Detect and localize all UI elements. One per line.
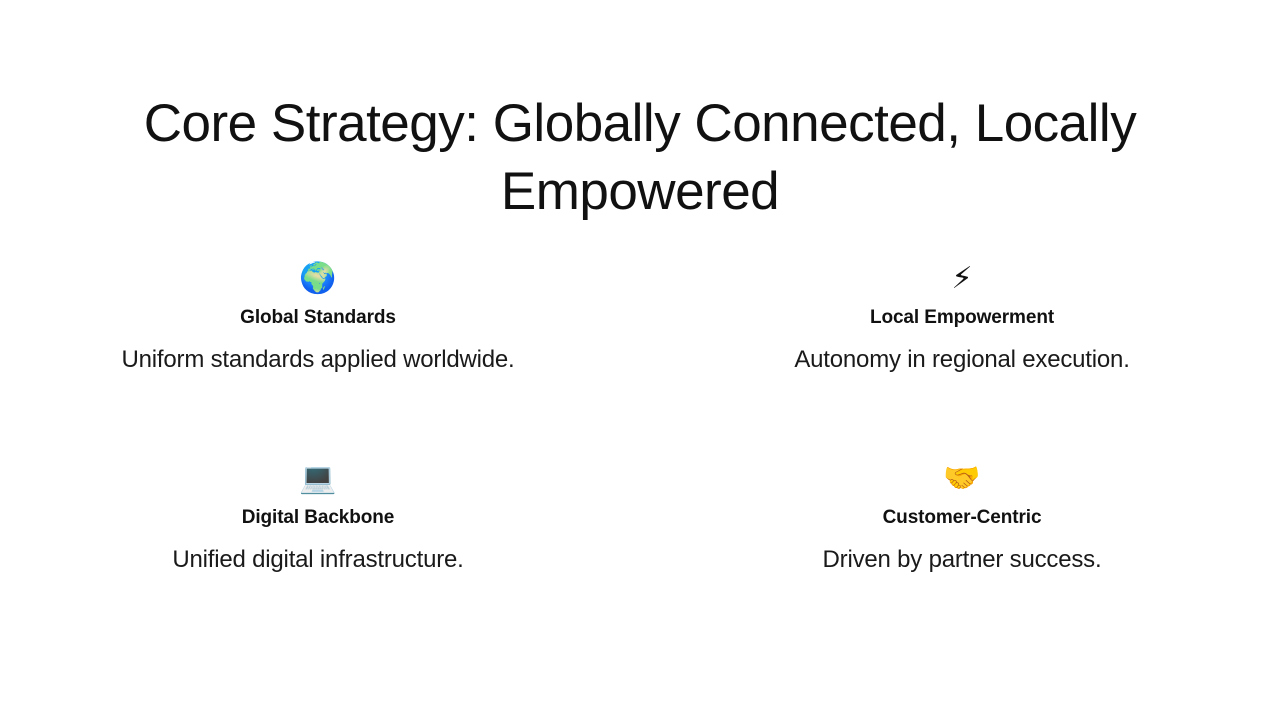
feature-heading: Global Standards [240,305,396,331]
feature-card-customer-centric: 🤝 Customer-Centric Driven by partner suc… [710,462,1214,662]
feature-heading: Digital Backbone [242,505,395,531]
feature-description: Autonomy in regional execution. [794,345,1129,375]
feature-heading: Local Empowerment [870,305,1054,331]
feature-description: Unified digital infrastructure. [172,545,463,575]
globe-europe-africa-icon: 🌍 [299,262,336,300]
high-voltage-icon: ⚡ [951,262,972,300]
feature-description: Driven by partner success. [823,545,1102,575]
laptop-icon: 💻 [299,462,336,500]
feature-card-local-empowerment: ⚡ Local Empowerment Autonomy in regional… [710,262,1214,462]
feature-card-global-standards: 🌍 Global Standards Uniform standards app… [66,262,570,462]
feature-description: Uniform standards applied worldwide. [122,345,515,375]
handshake-icon: 🤝 [943,462,980,500]
presentation-slide: Core Strategy: Globally Connected, Local… [0,0,1280,720]
feature-grid: 🌍 Global Standards Uniform standards app… [66,262,1214,662]
page-title: Core Strategy: Globally Connected, Local… [60,90,1220,226]
feature-heading: Customer-Centric [883,505,1042,531]
feature-card-digital-backbone: 💻 Digital Backbone Unified digital infra… [66,462,570,662]
